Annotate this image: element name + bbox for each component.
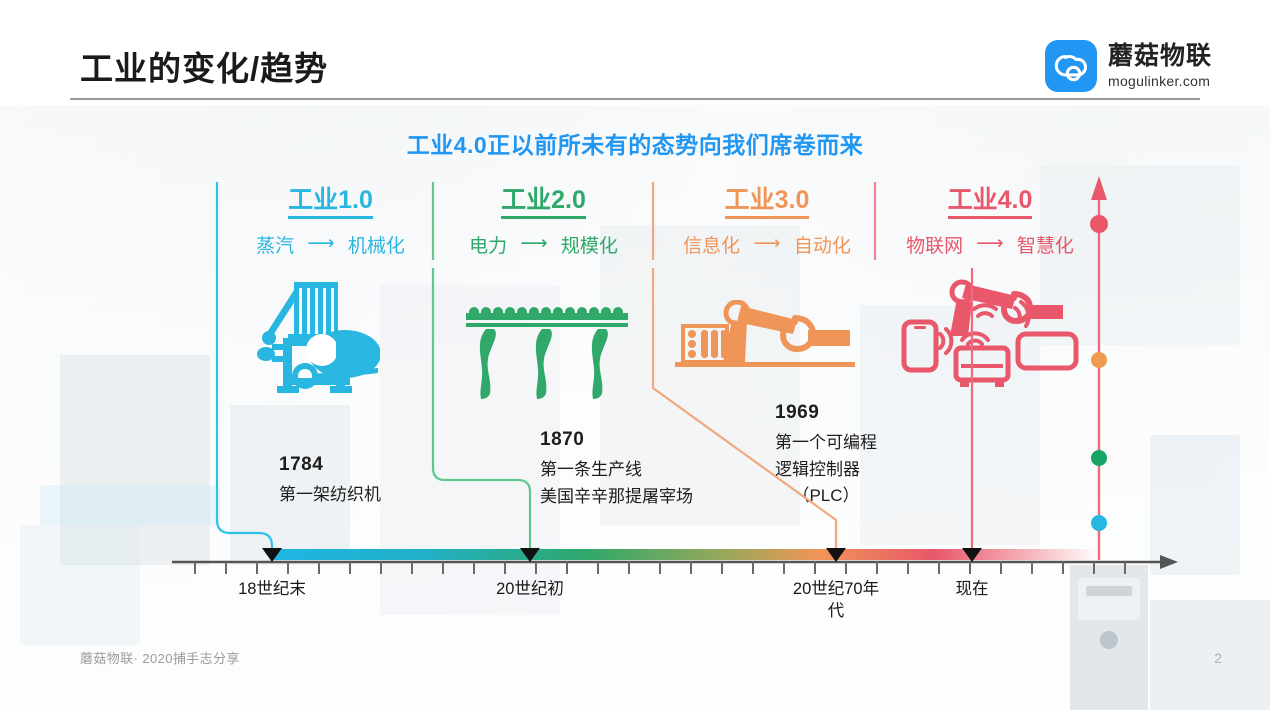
event-line-3-2: 逻辑控制器: [775, 457, 877, 483]
era-title-4: 工业4.0: [948, 186, 1033, 219]
era-title-3: 工业3.0: [725, 186, 810, 219]
page-title: 工业的变化/趋势: [80, 42, 328, 90]
slide: 工业的变化/趋势 蘑菇物联 mogulinker.com 工业4.0正以前所未有…: [0, 0, 1270, 710]
logo-text-en: mogulinker.com: [1108, 74, 1212, 88]
cloud-icon: [1045, 40, 1097, 92]
era-from-3: 信息化: [683, 236, 740, 257]
loom-machine-icon: [250, 278, 380, 398]
axis-label-3: 20世纪70年 代: [770, 578, 902, 623]
brand-logo: 蘑菇物联 mogulinker.com: [1045, 40, 1212, 92]
arrow-right-icon: ⟶: [307, 232, 334, 255]
event-line-2-2: 美国辛辛那提屠宰场: [540, 484, 693, 510]
era-flow-3: 信息化 ⟶ 自动化: [662, 231, 872, 258]
event-year-2: 1870: [540, 425, 693, 454]
slide-header: 工业的变化/趋势 蘑菇物联 mogulinker.com: [0, 0, 1270, 105]
arrow-right-icon: ⟶: [520, 232, 547, 255]
event-caption-3: 1969 第一个可编程 逻辑控制器 （PLC）: [775, 398, 877, 509]
era-to-1: 机械化: [348, 236, 405, 257]
era-from-1: 蒸汽: [256, 236, 294, 257]
era-from-4: 物联网: [906, 236, 963, 257]
axis-label-3-line2: 代: [828, 602, 845, 620]
iot-devices-icon: [900, 278, 1080, 390]
event-year-1: 1784: [279, 450, 381, 479]
axis-label-2: 20世纪初: [460, 578, 600, 600]
event-caption-2: 1870 第一条生产线 美国辛辛那提屠宰场: [540, 425, 693, 510]
event-line-1-1: 第一架纺织机: [279, 482, 381, 508]
event-line-3-1: 第一个可编程: [775, 430, 877, 456]
slide-subtitle: 工业4.0正以前所未有的态势向我们席卷而来: [0, 126, 1270, 160]
event-caption-1: 1784 第一架纺织机: [279, 450, 381, 509]
logo-text-cn: 蘑菇物联: [1108, 44, 1212, 69]
era-block-3: 工业3.0 信息化 ⟶ 自动化: [662, 186, 872, 258]
era-flow-4: 物联网 ⟶ 智慧化: [885, 231, 1095, 258]
page-number: 2: [1214, 650, 1222, 666]
event-line-2-1: 第一条生产线: [540, 457, 693, 483]
footer-text: 蘑菇物联· 2020捕手志分享: [80, 648, 240, 667]
title-divider: [70, 98, 1200, 100]
era-flow-1: 蒸汽 ⟶ 机械化: [233, 231, 428, 258]
era-to-4: 智慧化: [1017, 236, 1074, 257]
arrow-right-icon: ⟶: [976, 232, 1003, 255]
event-line-3-3: （PLC）: [775, 483, 877, 509]
era-from-2: 电力: [469, 236, 507, 257]
assembly-line-icon: [466, 305, 631, 400]
era-block-4: 工业4.0 物联网 ⟶ 智慧化: [885, 186, 1095, 258]
arrow-right-icon: ⟶: [753, 232, 780, 255]
axis-label-3-line1: 20世纪70年: [793, 580, 879, 598]
era-block-1: 工业1.0 蒸汽 ⟶ 机械化: [233, 186, 428, 258]
axis-label-1: 18世纪末: [202, 578, 342, 600]
era-title-1: 工业1.0: [288, 186, 373, 219]
era-to-3: 自动化: [794, 236, 851, 257]
axis-label-4: 现在: [912, 578, 1032, 600]
era-block-2: 工业2.0 电力 ⟶ 规模化: [446, 186, 641, 258]
event-year-3: 1969: [775, 398, 877, 427]
era-to-2: 规模化: [561, 236, 618, 257]
robot-arm-icon: [675, 300, 855, 372]
era-flow-2: 电力 ⟶ 规模化: [446, 231, 641, 258]
era-title-2: 工业2.0: [501, 186, 586, 219]
